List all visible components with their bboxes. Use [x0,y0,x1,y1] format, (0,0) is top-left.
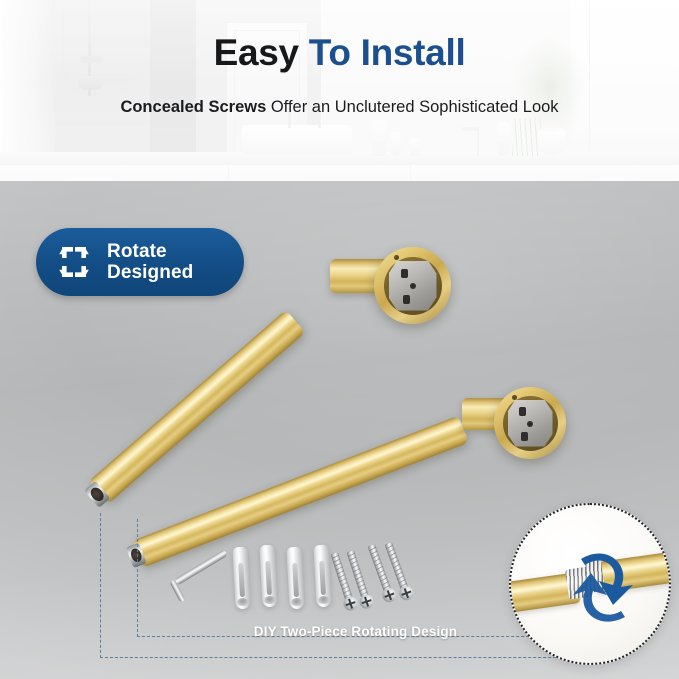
subtitle-strong-text: Concealed Screws [120,98,266,116]
counter-lamp-shade [462,127,478,131]
bathroom-scene-photo [0,0,679,181]
sink-basin [242,125,352,155]
mounting-plate-lower [508,400,553,447]
shower-valve [79,76,103,90]
callout-caption: DIY Two-Piece Rotating Design [137,624,574,639]
plate-hole-mid [410,283,416,289]
product-feature-image: Easy To Install Concealed Screws Offer a… [0,0,679,679]
badge-label-line1: Rotate [107,241,167,262]
page-subtitle: Concealed Screws Offer an Unclutered Sop… [0,98,679,118]
counter-bottle-2 [390,132,401,156]
curved-rotation-arrow-icon [555,539,651,635]
counter-bottle-4 [497,122,510,156]
plate-hole-mid-2 [527,421,533,427]
title-text-accent: To Install [309,32,466,73]
header-banner: Easy To Install Concealed Screws Offer a… [0,0,679,181]
rotate-designed-badge[interactable]: Rotate Designed [36,228,244,296]
grab-bar-upper [100,78,130,83]
plate-hole-top-2 [519,407,526,416]
subtitle-rest-text: Offer an Unclutered Sophisticated Look [266,98,558,116]
counter-bottle-3 [410,138,420,156]
counter-lamp-stem [477,127,479,156]
badge-label: Rotate Designed [107,241,193,284]
flange-cavity-lower [503,396,558,451]
vanity-cabinet [0,165,679,181]
wall-flange-lower [494,387,566,459]
rotate-arrows-icon [52,240,96,284]
plant-vase [538,128,565,156]
flange-set-screw-upper [394,255,399,260]
flange-set-screw-lower [512,395,517,400]
counter-bottle-1 [372,120,386,156]
plate-hole-bottom-2 [521,432,528,441]
badge-label-line2: Designed [107,262,193,283]
page-title: Easy To Install [0,34,679,71]
wall-flange-upper [374,247,451,324]
rotating-joint-detail [509,503,671,665]
plate-hole-top [401,269,408,278]
flange-cavity-upper [384,257,442,315]
mounting-plate-upper [389,261,437,311]
title-text-primary: Easy [214,32,309,73]
plate-hole-bottom [403,295,410,304]
